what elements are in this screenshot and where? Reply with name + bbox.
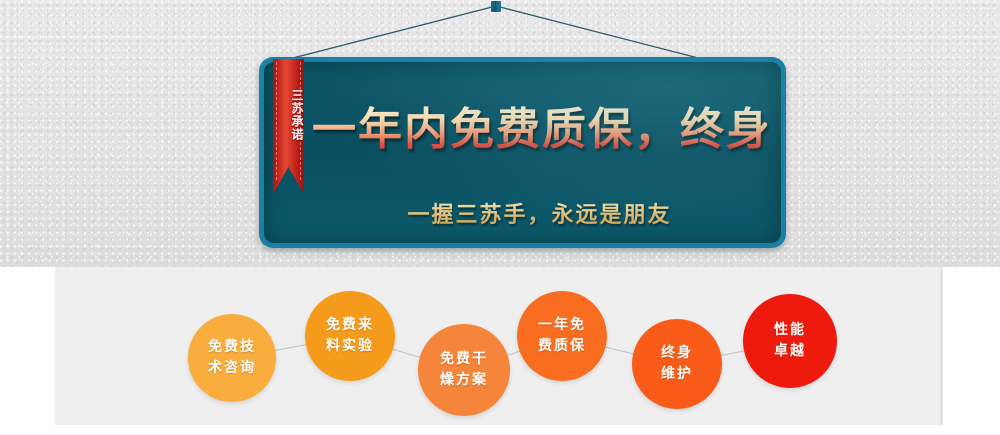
- promise-ribbon: 三苏承诺: [273, 59, 304, 194]
- feature-circle-4[interactable]: 一年免 费质保: [517, 291, 607, 381]
- promo-banner-page: 三苏承诺 一年内免费质保，终身维护 一握三苏手，永远是朋友 免费技 术咨询免费来…: [0, 0, 1000, 435]
- feature-circle-label: 性能 卓越: [774, 320, 806, 362]
- hanging-hook-icon: [491, 1, 501, 12]
- promise-banner-board: 三苏承诺 一年内免费质保，终身维护 一握三苏手，永远是朋友: [259, 57, 786, 248]
- feature-circle-label: 免费技 术咨询: [208, 337, 256, 379]
- feature-circle-2[interactable]: 免费来 料实验: [305, 291, 395, 381]
- feature-circle-label: 免费干 燥方案: [440, 349, 488, 391]
- banner-inner-surface: 三苏承诺 一年内免费质保，终身维护 一握三苏手，永远是朋友: [264, 62, 781, 243]
- feature-circle-1[interactable]: 免费技 术咨询: [188, 314, 276, 402]
- feature-circle-field: 免费技 术咨询免费来 料实验免费干 燥方案一年免 费质保终身 维护性能 卓越: [0, 267, 1000, 435]
- banner-headline: 一年内免费质保，终身维护: [312, 104, 767, 156]
- feature-circle-3[interactable]: 免费干 燥方案: [418, 324, 510, 416]
- banner-subline: 一握三苏手，永远是朋友: [312, 202, 767, 230]
- feature-circle-5[interactable]: 终身 维护: [632, 319, 722, 409]
- features-section: 免费技 术咨询免费来 料实验免费干 燥方案一年免 费质保终身 维护性能 卓越: [0, 267, 1000, 435]
- feature-circle-label: 免费来 料实验: [326, 315, 374, 357]
- feature-circle-label: 一年免 费质保: [538, 315, 586, 357]
- promise-ribbon-label: 三苏承诺: [273, 66, 304, 164]
- feature-circle-6[interactable]: 性能 卓越: [743, 294, 837, 388]
- feature-circle-label: 终身 维护: [661, 343, 693, 385]
